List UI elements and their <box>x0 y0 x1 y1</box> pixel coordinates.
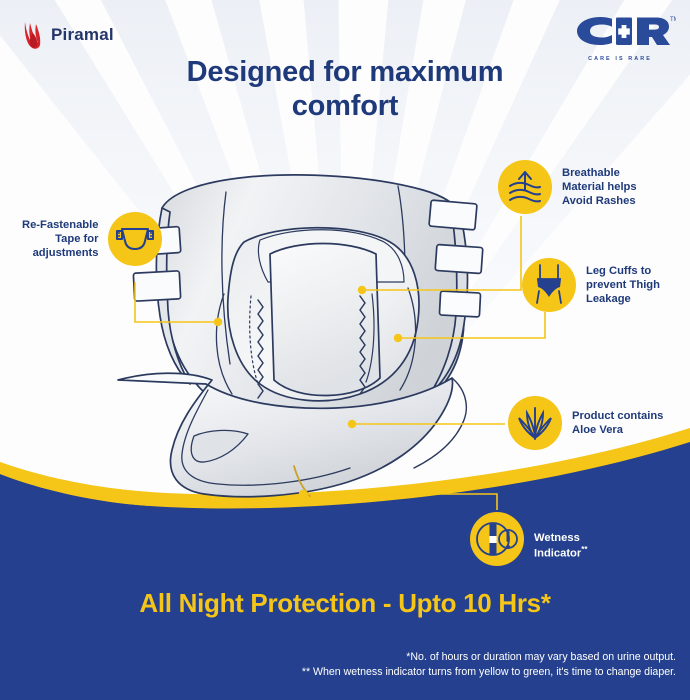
piramal-flame-icon <box>22 20 44 50</box>
callout-wetness-indicator[interactable]: Wetness Indicator** <box>470 512 587 566</box>
callout-label-breathable-material: Breathable Material helps Avoid Rashes <box>562 166 637 208</box>
callout-badge-re-fastenable-tape <box>108 212 162 266</box>
page-title-line1: Designed for maximum <box>0 56 690 90</box>
cir-trademark-mark: TM <box>670 17 676 23</box>
callout-badge-aloe-vera <box>508 396 562 450</box>
footnotes: *No. of hours or duration may vary based… <box>302 650 676 681</box>
footnote-line1: *No. of hours or duration may vary based… <box>302 650 676 665</box>
page-title-line2: comfort <box>0 90 690 124</box>
breathable-layers-arrow-icon <box>506 168 544 206</box>
callout-badge-wetness-indicator <box>470 512 524 566</box>
callout-badge-breathable-material <box>498 160 552 214</box>
diaper-tape-icon <box>115 223 155 255</box>
callout-label-re-fastenable-tape: Re-Fastenable Tape for adjustments <box>22 218 98 260</box>
callout-label-aloe-vera: Product contains Aloe Vera <box>572 409 663 437</box>
aloe-vera-plant-icon <box>517 404 553 442</box>
callout-label-wetness-indicator-text: Wetness Indicator <box>534 532 581 560</box>
cir-logo: TM CARE IS RARE <box>564 10 676 62</box>
callout-breathable-material[interactable]: Breathable Material helps Avoid Rashes <box>498 160 637 214</box>
callout-label-leg-cuffs: Leg Cuffs to prevent Thigh Leakage <box>586 264 660 306</box>
callout-re-fastenable-tape[interactable]: Re-Fastenable Tape for adjustments <box>22 212 162 266</box>
page-title: Designed for maximum comfort <box>0 56 690 123</box>
promo-banner-text: All Night Protection - Upto 10 Hrs* <box>0 588 690 619</box>
callout-leg-cuffs[interactable]: Leg Cuffs to prevent Thigh Leakage <box>522 258 660 312</box>
brief-underwear-icon <box>529 263 569 307</box>
callout-label-wetness-indicator: Wetness Indicator** <box>534 517 587 561</box>
cir-letters-icon: TM <box>564 10 676 50</box>
callout-aloe-vera[interactable]: Product contains Aloe Vera <box>508 396 663 450</box>
piramal-logo: Piramal <box>22 20 114 50</box>
callout-label-wetness-indicator-suffix: ** <box>581 545 587 554</box>
footnote-line2: ** When wetness indicator turns from yel… <box>302 665 676 680</box>
infographic-canvas: Piramal TM CARE IS RARE Designed for max… <box>0 0 690 700</box>
adult-diaper-illustration <box>108 168 508 498</box>
piramal-wordmark: Piramal <box>51 25 114 45</box>
callout-badge-leg-cuffs <box>522 258 576 312</box>
wetness-indicator-strip-icon <box>475 519 519 559</box>
